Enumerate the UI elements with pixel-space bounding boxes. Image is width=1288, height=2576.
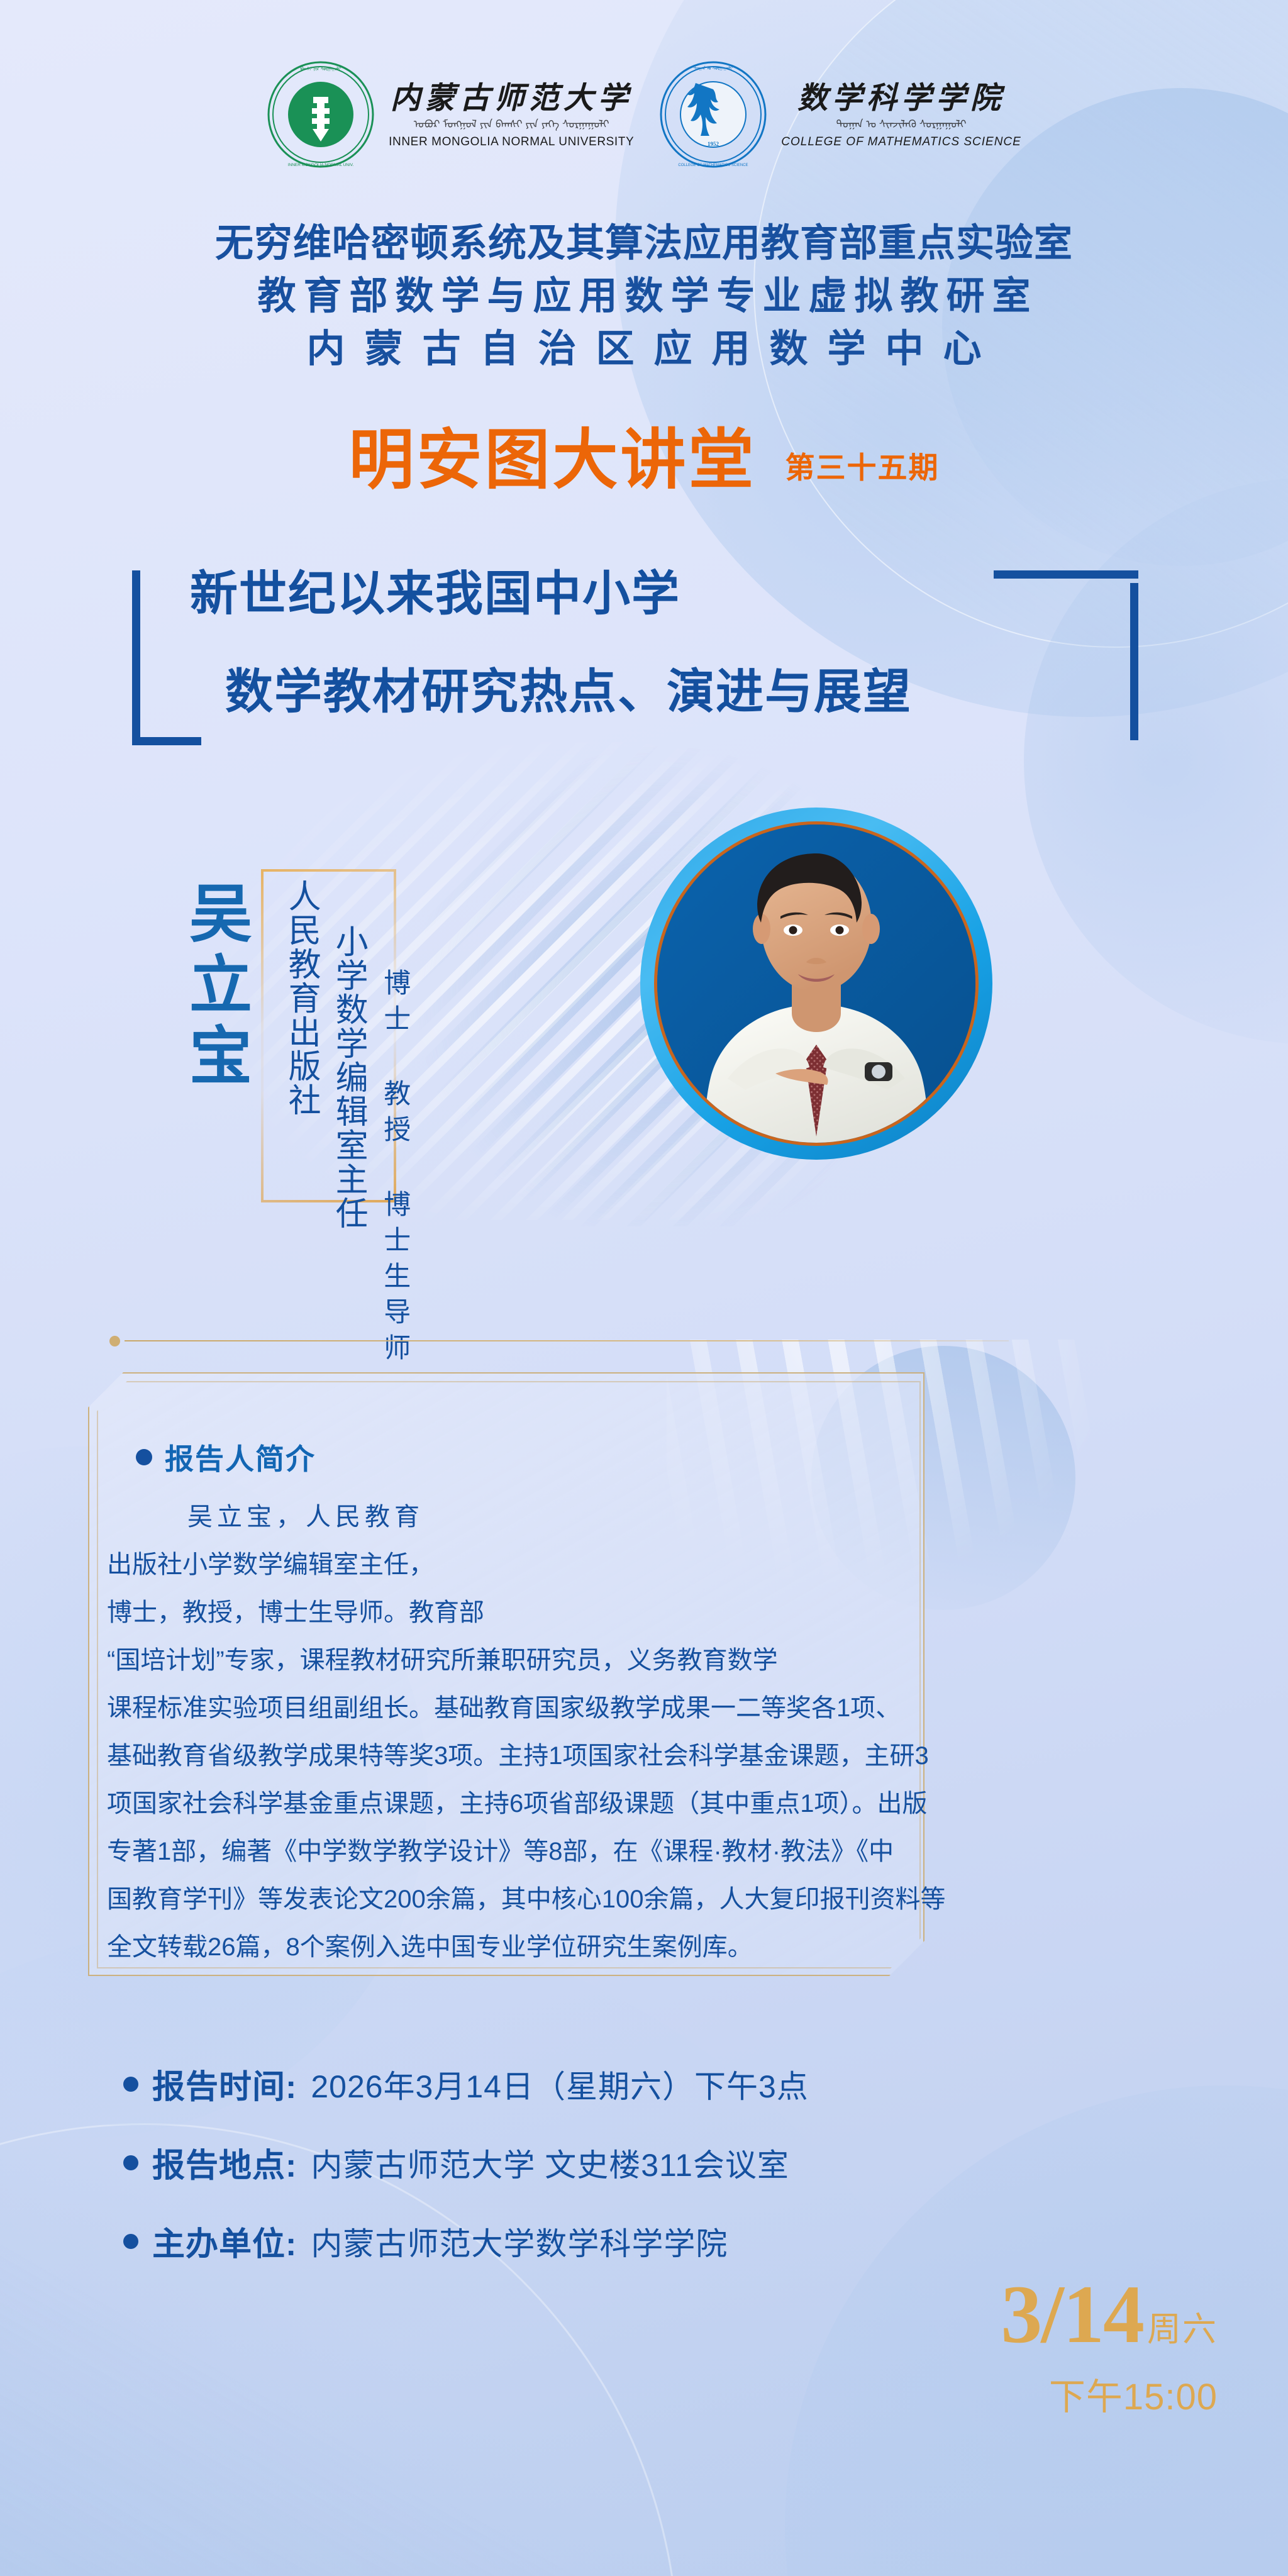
detail-label: 主办单位:: [152, 2218, 297, 2265]
svg-text:ᠲᠣᠭᠠᠨ ᠣ ᠰᠣᠷᠭᠠᠭᠣᠯᠢ: ᠲᠣᠭᠠᠨ ᠣ ᠰᠣᠷᠭᠠᠭᠣᠯᠢ: [694, 65, 733, 71]
detail-bullet-icon: [123, 2234, 138, 2249]
college-logo-text: 数学科学学院 ᠲᠣᠭᠠᠨ ᠣ ᠰᠢᠨᠵᠢᠯᠡᠬᠦ ᠰᠣᠷᠭᠠᠭᠣᠯᠢ COLLE…: [781, 83, 1021, 148]
detail-value: 2026年3月14日（星期六）下午3点: [311, 2062, 808, 2107]
svg-text:ᠪᠠᠭᠰᠢ ᠶᠢᠨ ᠰᠣᠷᠭᠠᠭᠣᠯᠢ: ᠪᠠᠭᠰᠢ ᠶᠢᠨ ᠰᠣᠷᠭᠠᠭᠣᠯᠢ: [301, 66, 341, 72]
university-name-cn: 内蒙古师范大学: [391, 83, 633, 114]
svg-text:COLLEGE OF MATHEMATICS SCIENCE: COLLEGE OF MATHEMATICS SCIENCE: [679, 164, 748, 167]
detail-value: 内蒙古师范大学数学科学学院: [311, 2219, 728, 2264]
college-name-cn: 数学科学学院: [797, 83, 1005, 114]
speaker-degrees: 博士 教授 博士生导师: [380, 969, 409, 1369]
speaker-affiliation: 人民教育出版社: [284, 879, 318, 1117]
bio-line-dot-icon: [109, 1336, 120, 1346]
footer-date-block: 3/14 周六 下午15:00: [1001, 2273, 1218, 2420]
speaker-portrait: [640, 808, 992, 1160]
speaker-name-frame: [261, 869, 396, 1202]
bio-line: 课程标准实验项目组副组长。基础教育国家级教学成果一二等奖各1项、: [107, 1684, 1163, 1732]
bracket-left-horizontal: [132, 737, 201, 745]
bio-line: 出版社小学数学编辑室主任，: [107, 1541, 1163, 1589]
detail-bullet-icon: [123, 2155, 138, 2170]
bio-decorative-line: [109, 1336, 1009, 1346]
bio-bullet-icon: [136, 1449, 152, 1465]
lecture-title-line-1: 新世纪以来我国中小学: [190, 570, 680, 618]
logo-college-of-mathematics-science: 1952 ᠲᠣᠭᠠᠨ ᠣ ᠰᠣᠷᠭᠠᠭᠣᠯᠢ COLLEGE OF MATHEM…: [659, 60, 1021, 172]
series-heading: 明安图大讲堂 第三十五期: [0, 428, 1288, 493]
university-seal-icon: ᠪᠠᠭᠰᠢ ᠶᠢᠨ ᠰᠣᠷᠭᠠᠭᠣᠯᠢ INNER MONGOLIA NORMA…: [267, 60, 375, 172]
detail-bullet-icon: [123, 2077, 138, 2092]
university-logo-text: 内蒙古师范大学 ᠣᠪᠣᠷ ᠮᠣᠩᠭᠣᠯ ᠶᠢᠨ ᠪᠠᠭᠰᠢ ᠶᠢᠨ ᠶᠡᠬᠡ ᠰ…: [389, 83, 634, 148]
series-title: 明安图大讲堂: [348, 428, 756, 493]
footer-date-main: 3/14 周六: [1001, 2273, 1218, 2356]
detail-value: 内蒙古师范大学 文史楼311会议室: [311, 2140, 789, 2185]
footer-weekday: 周六: [1147, 2301, 1218, 2356]
bio-body: 吴立宝，人民教育 出版社小学数学编辑室主任， 博士，教授，博士生导师。教育部 “…: [107, 1493, 1163, 1971]
university-name-en: INNER MONGOLIA NORMAL UNIVERSITY: [389, 135, 634, 149]
series-episode-badge: 第三十五期: [786, 443, 940, 493]
svg-text:1952: 1952: [708, 141, 719, 147]
bio-heading-label: 报告人简介: [165, 1436, 316, 1478]
lecture-title-block: 新世纪以来我国中小学 数学教材研究热点、演进与展望: [132, 557, 1138, 745]
detail-label: 报告地点:: [152, 2139, 297, 2186]
header-line-3: 内蒙古自治区应用数学中心: [0, 322, 1288, 375]
lecture-poster: ᠪᠠᠭᠰᠢ ᠶᠢᠨ ᠰᠣᠷᠭᠠᠭᠣᠯᠢ INNER MONGOLIA NORMA…: [0, 0, 1288, 2576]
college-name-mn: ᠲᠣᠭᠠᠨ ᠣ ᠰᠢᠨᠵᠢᠯᠡᠬᠦ ᠰᠣᠷᠭᠠᠭᠣᠯᠢ: [836, 119, 967, 130]
organization-header: 无穷维哈密顿系统及其算法应用教育部重点实验室 教育部数学与应用数学专业虚拟教研室…: [0, 216, 1288, 375]
speaker-role: 小学数学编辑室主任: [331, 924, 365, 1230]
bio-heading: 报告人简介: [136, 1436, 316, 1478]
svg-text:INNER MONGOLIA NORMAL UNIV.: INNER MONGOLIA NORMAL UNIV.: [288, 163, 354, 167]
event-details: 报告时间: 2026年3月14日（星期六）下午3点 报告地点: 内蒙古师范大学 …: [123, 2060, 809, 2265]
bio-line: 基础教育省级教学成果特等奖3项。主持1项国家社会科学基金课题，主研3: [107, 1732, 1163, 1780]
bio-line: 专著1部，编著《中学数学教学设计》等8部，在《课程·教材·教法》《中: [107, 1828, 1163, 1875]
footer-date-number: 3/14: [1001, 2273, 1143, 2356]
speaker-name: 吴立宝: [174, 879, 268, 1092]
bio-line: “国培计划”专家，课程教材研究所兼职研究员，义务教育数学: [107, 1636, 1163, 1684]
header-line-2: 教育部数学与应用数学专业虚拟教研室: [0, 269, 1288, 322]
bio-line: 项国家社会科学基金重点课题，主持6项省部级课题（其中重点1项）。出版: [107, 1780, 1163, 1828]
lecture-title-line-2: 数学教材研究热点、演进与展望: [225, 669, 912, 716]
header-line-1: 无穷维哈密顿系统及其算法应用教育部重点实验室: [0, 216, 1288, 269]
bracket-right-horizontal: [994, 570, 1138, 579]
bio-line: 国教育学刊》等发表论文200余篇，其中核心100余篇，人大复印报刊资料等: [107, 1875, 1163, 1923]
university-name-mn: ᠣᠪᠣᠷ ᠮᠣᠩᠭᠣᠯ ᠶᠢᠨ ᠪᠠᠭᠰᠢ ᠶᠢᠨ ᠶᠡᠬᠡ ᠰᠣᠷᠭᠠᠭᠣᠯᠢ: [414, 119, 609, 130]
bio-line: 博士，教授，博士生导师。教育部: [107, 1589, 1163, 1636]
detail-row-organizer: 主办单位: 内蒙古师范大学数学科学学院: [123, 2218, 809, 2265]
footer-time: 下午15:00: [1001, 2367, 1218, 2420]
detail-label: 报告时间:: [152, 2060, 297, 2107]
bracket-left-vertical: [132, 570, 140, 744]
detail-row-time: 报告时间: 2026年3月14日（星期六）下午3点: [123, 2060, 809, 2107]
bracket-right-vertical: [1130, 583, 1138, 740]
speaker-photo: [657, 824, 975, 1143]
detail-row-location: 报告地点: 内蒙古师范大学 文史楼311会议室: [123, 2139, 809, 2186]
college-name-en: COLLEGE OF MATHEMATICS SCIENCE: [781, 135, 1021, 149]
bio-line: 全文转载26篇，8个案例入选中国专业学位研究生案例库。: [107, 1923, 1163, 1971]
college-seal-icon: 1952 ᠲᠣᠭᠠᠨ ᠣ ᠰᠣᠷᠭᠠᠭᠣᠯᠢ COLLEGE OF MATHEM…: [659, 60, 767, 172]
logo-inner-mongolia-normal-university: ᠪᠠᠭᠰᠢ ᠶᠢᠨ ᠰᠣᠷᠭᠠᠭᠣᠯᠢ INNER MONGOLIA NORMA…: [267, 60, 634, 172]
institution-logos: ᠪᠠᠭᠰᠢ ᠶᠢᠨ ᠰᠣᠷᠭᠠᠭᠣᠯᠢ INNER MONGOLIA NORMA…: [0, 60, 1288, 172]
bio-line: 吴立宝，人民教育: [107, 1493, 1163, 1541]
bio-line-rule: [125, 1340, 1009, 1341]
